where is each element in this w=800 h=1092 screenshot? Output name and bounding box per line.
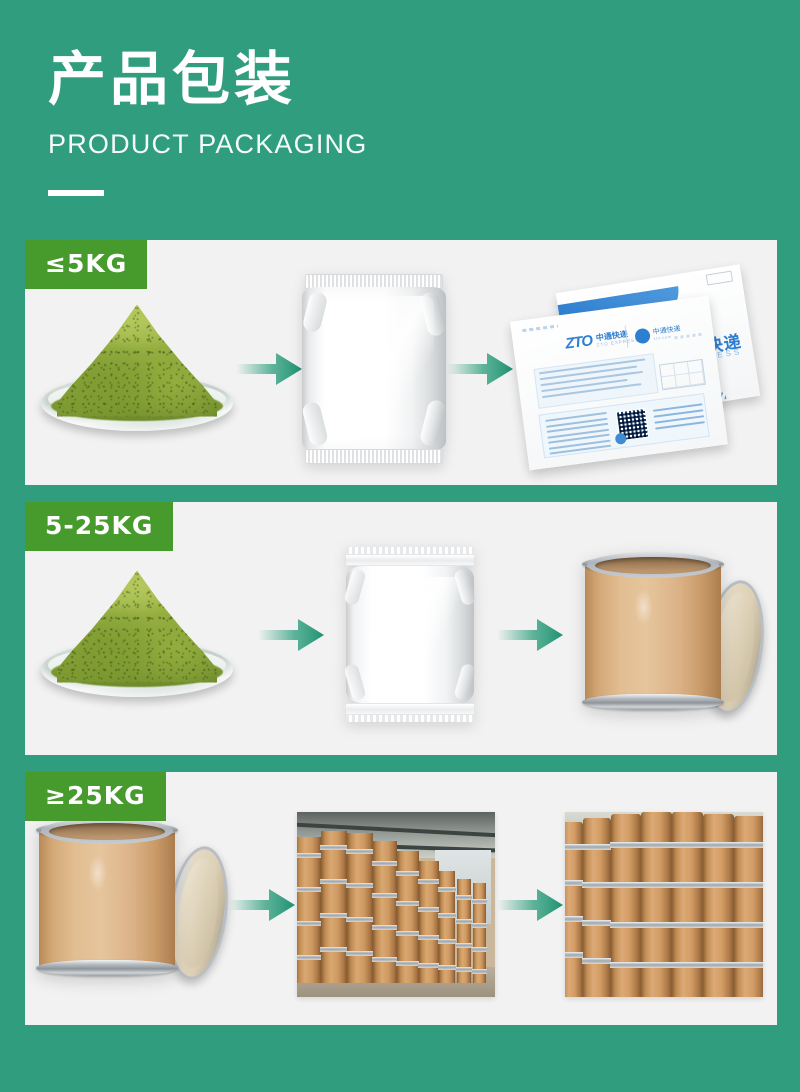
envelope-front: ZTO 中通快递 ZTO EXPRESS 中通快递 zto.com [510, 296, 728, 471]
zto-express-envelope-icon: 快通・方便・安全・准确 中通快递 EXPRESS ZTO 中通快递 ZTO EX… [513, 266, 763, 471]
warehouse-drums-close-photo [565, 812, 763, 997]
header-underline [48, 190, 104, 196]
drum-top-opening [49, 823, 165, 840]
drum-top-ellipse [587, 552, 719, 578]
drum-column [641, 812, 672, 997]
drum-bottom-rim [36, 960, 178, 976]
drum-stack [439, 871, 455, 983]
drum-stack [347, 833, 373, 983]
petri-dish-green-powder-icon [39, 303, 235, 435]
arrow-right-icon [447, 347, 513, 391]
packaging-rows: ≤5KG [25, 240, 777, 1042]
drum-stack [373, 841, 397, 983]
page-header: 产品包装 PRODUCT PACKAGING [0, 0, 800, 196]
drum-column [734, 816, 763, 997]
step-zto-envelope: 快通・方便・安全・准确 中通快递 EXPRESS ZTO 中通快递 ZTO EX… [513, 266, 763, 471]
drum-body-group [585, 552, 721, 712]
green-powder-mound [57, 571, 217, 683]
fiber-drum-icon [585, 544, 763, 726]
drum-stack [473, 883, 486, 983]
drum-top-ellipse [41, 818, 173, 844]
arrow-right-icon [497, 883, 563, 927]
page-title-en: PRODUCT PACKAGING [48, 129, 800, 160]
weight-badge-2: 5-25KG [25, 502, 173, 551]
arrow-right-icon [497, 613, 563, 657]
arrow-right-icon [258, 613, 324, 657]
drum-column [611, 814, 641, 997]
drum-column [565, 822, 583, 997]
drum-stack [419, 861, 439, 983]
sachet-seal-top [346, 554, 474, 566]
promo-text-block [653, 403, 706, 433]
pillow-foil-bag-icon [302, 274, 446, 464]
sachet-serrated-top [346, 547, 474, 554]
drum-body-group [39, 818, 175, 978]
sachet-serrated-bottom [346, 715, 474, 722]
packaging-row-2: 5-25KG [25, 502, 777, 755]
step-fiber-drum-3 [39, 810, 227, 1000]
arrow-right-icon [236, 347, 302, 391]
sachet-seal-bottom [346, 703, 474, 715]
drum-column [672, 812, 703, 997]
lower-text-block [545, 412, 611, 458]
arrow-right-icon [229, 883, 295, 927]
drum-top-opening [595, 557, 711, 574]
sachet-body [346, 566, 474, 703]
drum-stack [297, 837, 321, 983]
drum-stack [397, 851, 419, 983]
sachet-pouch-icon [346, 547, 474, 722]
envelope-dashline-top [522, 324, 558, 332]
step-pillow-bag [302, 274, 446, 464]
step-fiber-drum-2 [585, 544, 763, 726]
step-warehouse-close [565, 812, 763, 997]
step-petri-dish-1 [39, 303, 235, 435]
step-sachet-pouch [346, 547, 474, 722]
drum-column [583, 818, 611, 997]
weight-badge-3: ≥25KG [25, 772, 166, 821]
step-warehouse-wide [297, 812, 495, 997]
envelope-logo-zto: ZTO [564, 332, 593, 352]
drum-bottom-rim [582, 694, 724, 710]
step-petri-dish-2 [39, 569, 235, 701]
packaging-row-3: ≥25KG [25, 772, 777, 1025]
envelope-grid-box [659, 359, 706, 391]
drum-stack [321, 831, 347, 983]
green-powder-mound [57, 305, 217, 417]
warehouse-drums-wide-photo [297, 812, 495, 997]
page-title-cn: 产品包装 [48, 48, 800, 111]
lower-seal-icon [615, 433, 627, 445]
bag-bottom-seal [305, 449, 443, 464]
drum-kraft-body [585, 564, 721, 703]
packaging-row-1: ≤5KG [25, 240, 777, 485]
drum-stack [457, 879, 471, 983]
weight-badge-1: ≤5KG [25, 240, 147, 289]
drum-kraft-body [39, 830, 175, 969]
envelope-code-box [706, 271, 733, 286]
petri-dish-green-powder-icon [39, 569, 235, 701]
fiber-drum-icon [39, 810, 227, 1000]
envelope-seal-en: zto.com [653, 334, 672, 341]
drum-column [703, 814, 734, 997]
